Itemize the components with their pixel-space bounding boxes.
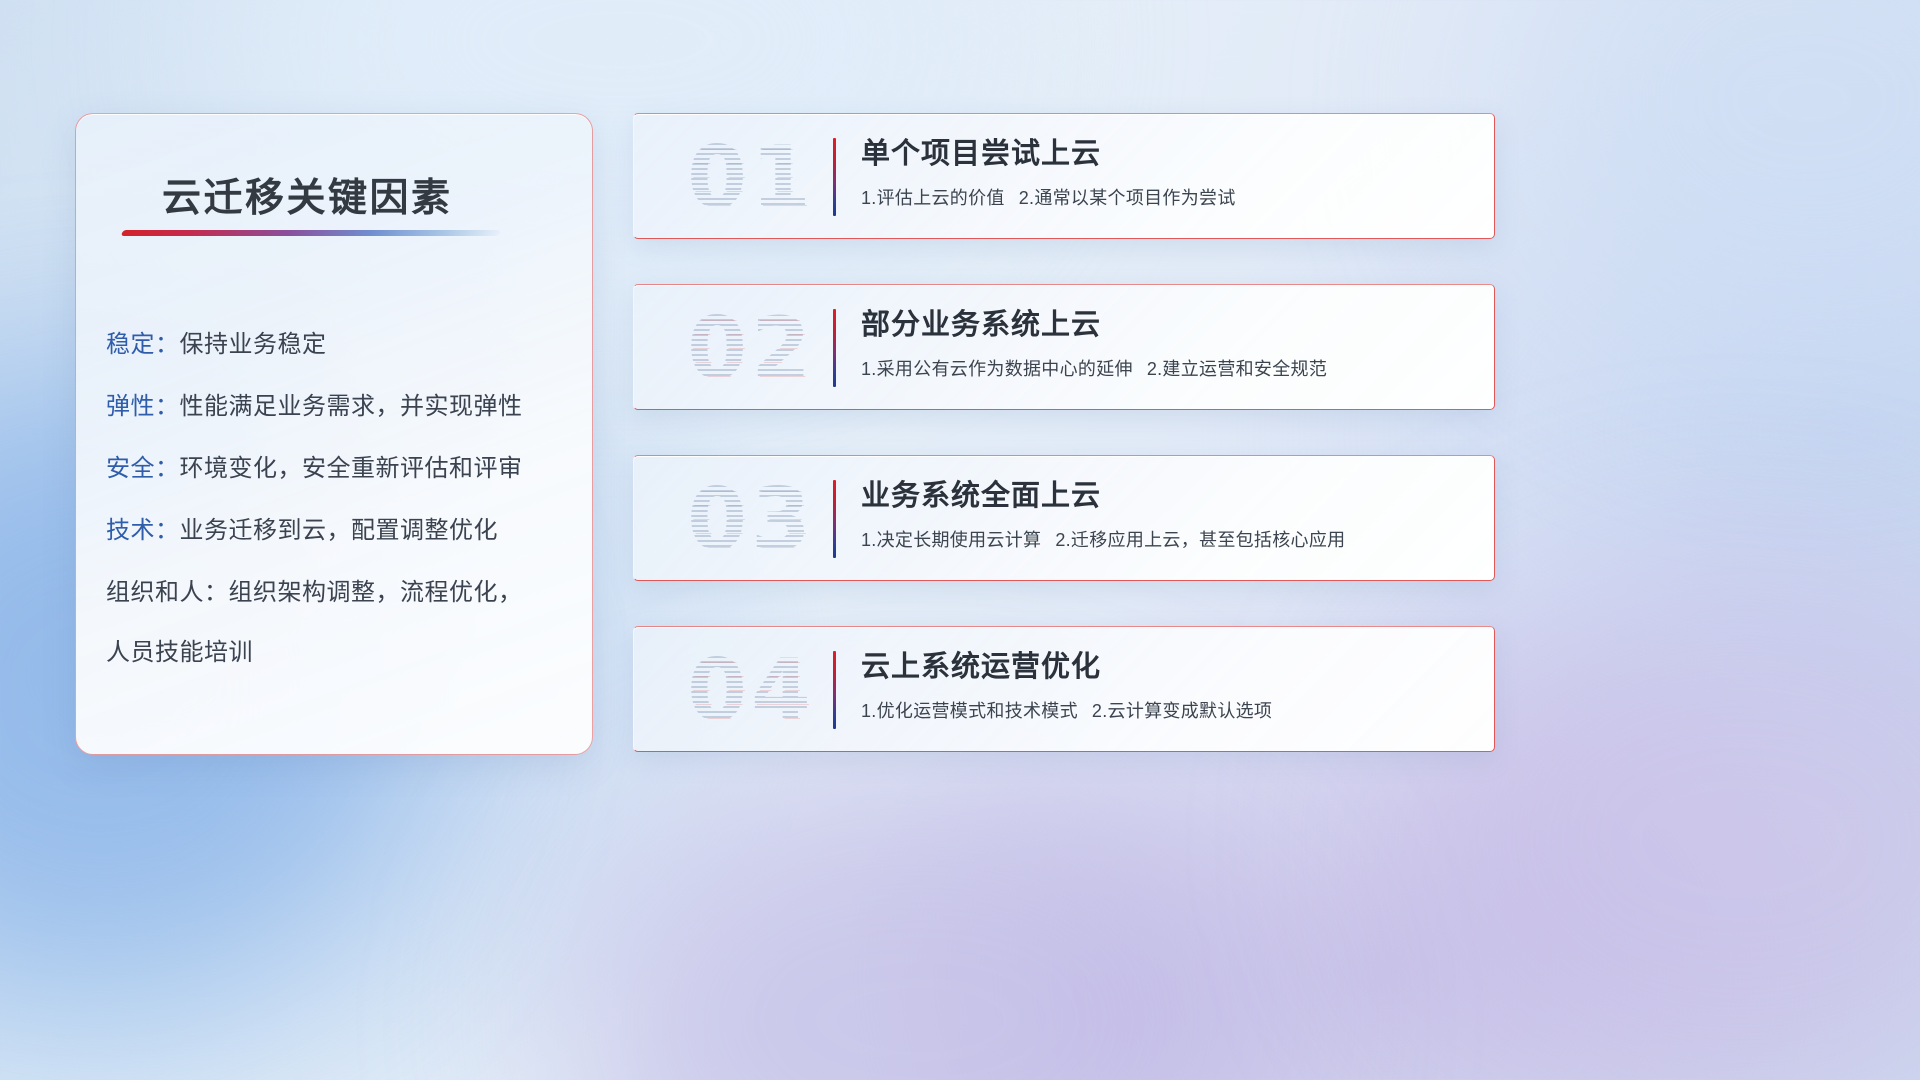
stage-number-red-ghost: 01 [689,128,817,228]
panel-title: 云迁移关键因素 [162,167,453,223]
key-factor-label: 弹性： [106,393,180,420]
stage-number-red-ghost: 02 [689,299,817,399]
stage-description-part-1: 1.采用公有云作为数据中心的延伸 [861,359,1133,379]
key-factor-item: 弹性：性能满足业务需求，并实现弹性 [106,376,574,438]
stage-description: 1.决定长期使用云计算2.迁移应用上云，甚至包括核心应用 [861,526,1474,554]
key-factor-label: 稳定： [106,331,180,358]
stage-number-glitch: 0404 [666,643,836,739]
key-factor-text: 组织架构调整，流程优化， [229,579,523,606]
slide-canvas: 云迁移关键因素 稳定：保持业务稳定弹性：性能满足业务需求，并实现弹性安全：环境变… [0,0,1920,1080]
stage-description-part-2: 2.云计算变成默认选项 [1092,701,1272,721]
stage-description-part-1: 1.优化运营模式和技术模式 [861,701,1078,721]
key-factor-item: 安全：环境变化，安全重新评估和评审 [106,438,574,500]
accent-divider-bar [833,138,836,216]
stage-card-body: 业务系统全面上云1.决定长期使用云计算2.迁移应用上云，甚至包括核心应用 [861,474,1474,554]
stage-card[interactable]: 0303业务系统全面上云1.决定长期使用云计算2.迁移应用上云，甚至包括核心应用 [633,455,1495,581]
stage-description-part-2: 2.建立运营和安全规范 [1147,359,1327,379]
stage-title: 云上系统运营优化 [861,645,1474,689]
accent-divider-bar [833,651,836,729]
stage-title: 部分业务系统上云 [861,303,1474,347]
stage-description: 1.优化运营模式和技术模式2.云计算变成默认选项 [861,697,1474,725]
stage-number-glitch: 0101 [666,130,836,226]
stage-card-body: 云上系统运营优化1.优化运营模式和技术模式2.云计算变成默认选项 [861,645,1474,725]
key-factor-item: 人员技能培训 [106,624,574,682]
stage-card-body: 部分业务系统上云1.采用公有云作为数据中心的延伸2.建立运营和安全规范 [861,303,1474,383]
stage-number-red-ghost: 03 [689,470,817,570]
stage-description-part-2: 2.通常以某个项目作为尝试 [1019,188,1236,208]
title-underline-accent [121,230,501,236]
stage-card[interactable]: 0404云上系统运营优化1.优化运营模式和技术模式2.云计算变成默认选项 [633,626,1495,752]
key-factor-text: 人员技能培训 [106,639,253,666]
key-factors-list: 稳定：保持业务稳定弹性：性能满足业务需求，并实现弹性安全：环境变化，安全重新评估… [106,314,574,682]
stage-number-red-ghost: 04 [689,641,817,741]
stage-card[interactable]: 0101单个项目尝试上云1.评估上云的价值2.通常以某个项目作为尝试 [633,113,1495,239]
stage-card-body: 单个项目尝试上云1.评估上云的价值2.通常以某个项目作为尝试 [861,132,1474,212]
stage-number-glitch: 0303 [666,472,836,568]
key-factor-text: 环境变化，安全重新评估和评审 [180,455,523,482]
stage-title: 单个项目尝试上云 [861,132,1474,176]
key-factor-label: 组织和人： [106,579,229,606]
key-factor-label: 安全： [106,455,180,482]
key-factor-item: 技术：业务迁移到云，配置调整优化 [106,500,574,562]
key-factor-text: 业务迁移到云，配置调整优化 [180,517,499,544]
accent-divider-bar [833,480,836,558]
key-factor-item: 稳定：保持业务稳定 [106,314,574,376]
key-factor-item: 组织和人：组织架构调整，流程优化， [106,562,574,624]
stage-description-part-2: 2.迁移应用上云，甚至包括核心应用 [1055,530,1345,550]
stage-description: 1.评估上云的价值2.通常以某个项目作为尝试 [861,184,1474,212]
key-factors-panel: 云迁移关键因素 稳定：保持业务稳定弹性：性能满足业务需求，并实现弹性安全：环境变… [75,113,593,755]
stage-cards: 0101单个项目尝试上云1.评估上云的价值2.通常以某个项目作为尝试0202部分… [633,113,1495,752]
accent-divider-bar [833,309,836,387]
stage-description-part-1: 1.决定长期使用云计算 [861,530,1041,550]
key-factor-label: 技术： [106,517,180,544]
stage-title: 业务系统全面上云 [861,474,1474,518]
stage-description-part-1: 1.评估上云的价值 [861,188,1005,208]
stage-description: 1.采用公有云作为数据中心的延伸2.建立运营和安全规范 [861,355,1474,383]
stage-card[interactable]: 0202部分业务系统上云1.采用公有云作为数据中心的延伸2.建立运营和安全规范 [633,284,1495,410]
key-factor-text: 性能满足业务需求，并实现弹性 [180,393,523,420]
stage-number-glitch: 0202 [666,301,836,397]
key-factor-text: 保持业务稳定 [180,331,327,358]
